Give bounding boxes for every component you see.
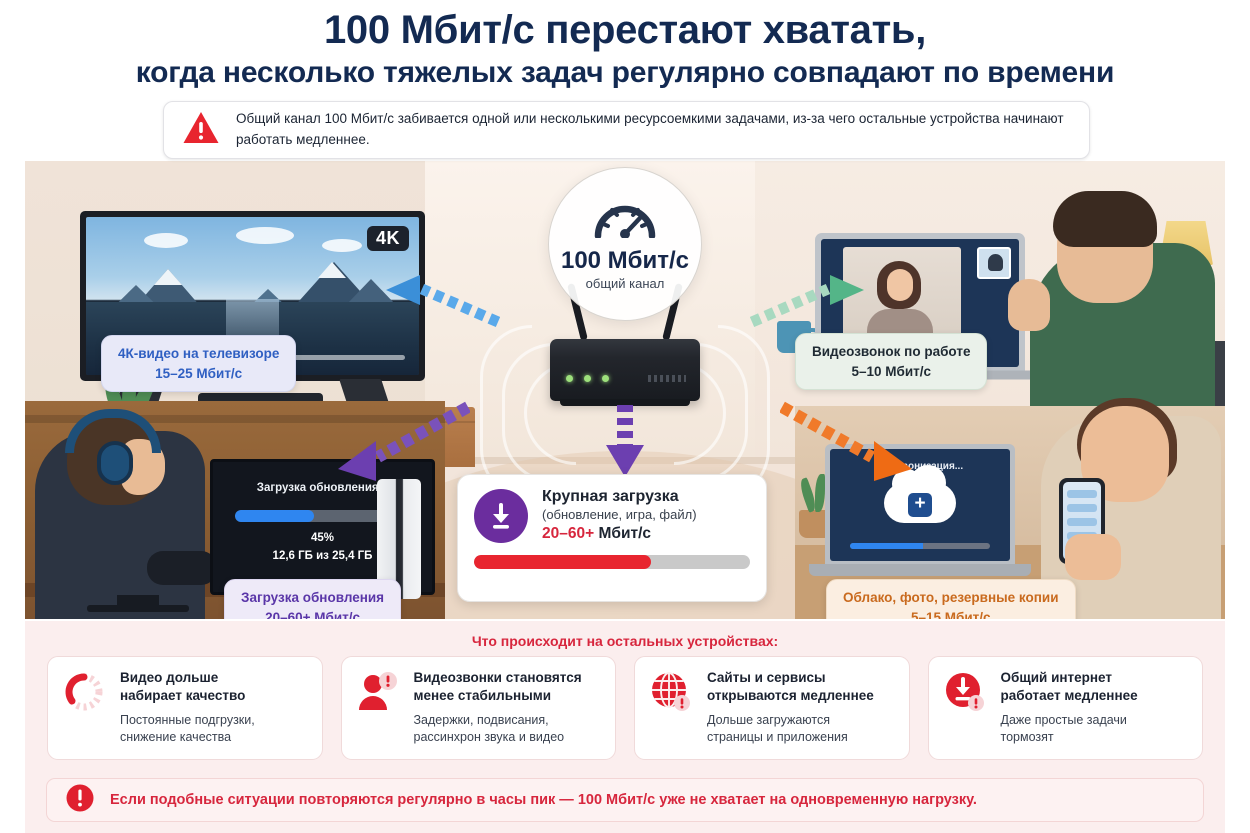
consequences-cards: Видео дольше набирает качество Постоянны… — [47, 656, 1203, 760]
footer-banner: Если подобные ситуации повторяются регул… — [46, 778, 1204, 822]
exclamation-circle-icon — [65, 783, 95, 818]
consequences-heading: Что происходит на остальных устройствах: — [25, 633, 1225, 649]
consequence-sub-l2: снижение качества — [120, 730, 231, 744]
speedometer-icon — [592, 198, 658, 243]
consequence-title-l1: Сайты и сервисы — [707, 670, 826, 685]
footer-banner-text: Если подобные ситуации повторяются регул… — [110, 792, 977, 808]
warning-banner: Общий канал 100 Мбит/с забивается одной … — [163, 101, 1090, 159]
router-vent — [648, 375, 686, 382]
tv-scene: 4K — [80, 211, 425, 426]
globe-alert-icon — [648, 669, 694, 715]
download-alert-icon — [942, 669, 988, 715]
consequence-sub-l1: Дольше загружаются — [707, 713, 830, 727]
download-card: Крупная загрузка (обновление, игра, файл… — [457, 474, 767, 602]
consequence-sub-l1: Задержки, подвисания, — [414, 713, 549, 727]
callout-tv: 4К-видео на телевизоре 15–25 Мбит/с — [101, 335, 296, 392]
consequence-card: Общий интернет работает медленнее Даже п… — [928, 656, 1204, 760]
person-hair — [1053, 191, 1157, 247]
callout-tv-title: 4К-видео на телевизоре — [118, 344, 279, 364]
page-title-line1: 100 Мбит/с перестают хватать, — [0, 8, 1250, 53]
infographic-page: 100 Мбит/с перестают хватать, когда неск… — [0, 0, 1250, 833]
arrow-to-videocall — [750, 273, 870, 333]
consequence-title-l1: Общий интернет — [1001, 670, 1113, 685]
consequence-sub-l1: Даже простые задачи — [1001, 713, 1127, 727]
page-title-line2: когда несколько тяжелых задач регулярно … — [0, 56, 1250, 90]
consequence-title-l2: открываются медленнее — [707, 688, 874, 703]
callout-update-value: 20–60+ Мбит/с — [241, 608, 384, 619]
person-waving-hand — [1008, 279, 1050, 331]
download-circle-icon — [474, 489, 528, 543]
callout-videocall-value: 5–10 Мбит/с — [812, 362, 970, 382]
callout-cloud-value: 5–15 Мбит/с — [843, 608, 1059, 619]
headphones-icon — [97, 441, 133, 485]
callout-update: Загрузка обновления 20–60+ Мбит/с — [224, 579, 401, 619]
loading-spinner-icon — [61, 669, 107, 715]
hub-speed-value: 100 Мбит/с — [561, 247, 689, 275]
speed-hub: 100 Мбит/с общий канал — [548, 167, 702, 321]
warning-banner-text: Общий канал 100 Мбит/с забивается одной … — [236, 109, 1071, 151]
download-card-title: Крупная загрузка — [542, 488, 697, 506]
consequence-card: Сайты и сервисы открываются медленнее До… — [634, 656, 910, 760]
callout-cloud-title: Облако, фото, резервные копии — [843, 588, 1059, 608]
router-body — [550, 339, 700, 401]
consequence-title-l2: работает медленнее — [1001, 688, 1138, 703]
consequence-title-l1: Видеозвонки становятся — [414, 670, 582, 685]
download-card-progress — [474, 555, 750, 569]
person-hand — [1065, 534, 1121, 580]
consequence-sub-l2: тормозят — [1001, 730, 1054, 744]
consequence-sub-l2: страницы и приложения — [707, 730, 848, 744]
consequence-card: Видео дольше набирает качество Постоянны… — [47, 656, 323, 760]
download-card-value-highlight: 20–60+ — [542, 525, 594, 542]
cloudsync-progress-bar — [850, 543, 990, 549]
person-alert-icon — [355, 669, 401, 715]
caller-face — [887, 269, 913, 301]
consequence-card: Видеозвонки становятся менее стабильными… — [341, 656, 617, 760]
consequence-sub-l2: рассинхрон звука и видео — [414, 730, 565, 744]
consequence-sub-l1: Постоянные подгрузки, — [120, 713, 255, 727]
download-card-value: 20–60+ Мбит/с — [542, 525, 697, 543]
game-controller — [147, 551, 217, 585]
callout-update-title: Загрузка обновления — [241, 588, 384, 608]
monitor-base — [87, 605, 189, 612]
callout-videocall: Видеозвонок по работе 5–10 Мбит/с — [795, 333, 987, 390]
arrow-to-tv — [380, 273, 500, 333]
consequence-title-l1: Видео дольше — [120, 670, 218, 685]
arrow-to-cloud — [780, 399, 920, 489]
callout-tv-value: 15–25 Мбит/с — [118, 364, 279, 384]
consequence-title-l2: набирает качество — [120, 688, 245, 703]
download-card-value-unit: Мбит/с — [594, 525, 651, 542]
cloud-plus-badge: + — [908, 493, 932, 517]
callout-videocall-title: Видеозвонок по работе — [812, 342, 970, 362]
consequence-title-l2: менее стабильными — [414, 688, 552, 703]
arrow-to-download — [600, 403, 650, 481]
tv-4k-badge: 4K — [367, 226, 409, 251]
callout-cloud: Облако, фото, резервные копии 5–15 Мбит/… — [826, 579, 1076, 619]
self-video-tile — [977, 247, 1011, 279]
download-card-subtitle: (обновление, игра, файл) — [542, 507, 697, 522]
hub-subtitle: общий канал — [586, 276, 665, 291]
header: 100 Мбит/с перестают хватать, когда неск… — [0, 0, 1250, 96]
warning-triangle-icon — [182, 110, 220, 151]
laptop-base — [809, 564, 1031, 576]
arrow-to-update — [330, 399, 470, 489]
